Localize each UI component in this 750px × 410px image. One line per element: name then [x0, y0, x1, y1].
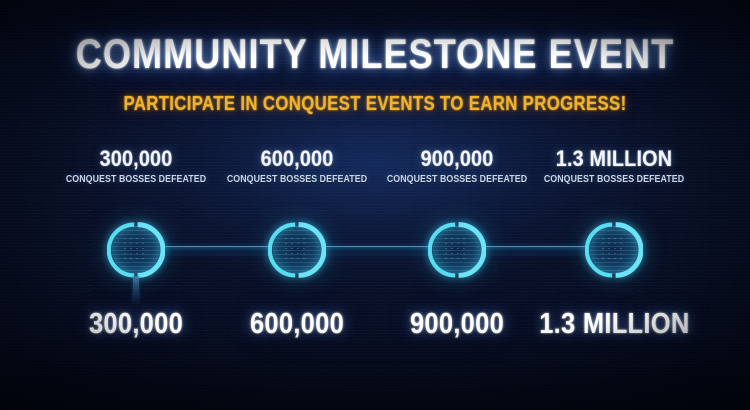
milestone-threshold-value: 900,000 — [381, 146, 534, 171]
milestone-node-ring-arc-icon — [107, 221, 165, 279]
milestone-threshold-label: CONQUEST BOSSES DEFEATED — [382, 174, 532, 186]
milestone-item[interactable]: 900,000 CONQUEST BOSSES DEFEATED 900,000 — [372, 146, 542, 186]
milestone-threshold-value: 300,000 — [60, 146, 213, 171]
milestone-threshold-value: 600,000 — [221, 146, 374, 171]
milestone-connector — [486, 246, 585, 253]
milestone-track: 300,000 CONQUEST BOSSES DEFEATED 300,000… — [0, 146, 750, 366]
milestone-reward-value: 900,000 — [382, 308, 532, 340]
milestone-threshold-label: CONQUEST BOSSES DEFEATED — [222, 174, 372, 186]
page-subtitle: PARTICIPATE IN CONQUEST EVENTS TO EARN P… — [60, 93, 690, 115]
milestone-reward-value: 600,000 — [222, 308, 372, 340]
community-milestone-event-banner: COMMUNITY MILESTONE EVENT PARTICIPATE IN… — [0, 0, 750, 410]
milestone-reward-value: 1.3 MILLION — [539, 308, 689, 340]
milestone-connector — [165, 246, 268, 253]
milestone-node-ring-arc-icon — [268, 221, 326, 279]
milestone-threshold-label: CONQUEST BOSSES DEFEATED — [539, 174, 689, 186]
milestone-item[interactable]: 600,000 CONQUEST BOSSES DEFEATED 600,000 — [212, 146, 382, 186]
milestone-threshold-label: CONQUEST BOSSES DEFEATED — [61, 174, 211, 186]
milestone-node-ring-icon[interactable] — [107, 221, 165, 279]
milestone-node-ring-icon[interactable] — [585, 221, 643, 279]
milestone-node-ring-icon[interactable] — [268, 221, 326, 279]
milestone-progress-stub — [133, 276, 139, 302]
milestone-node-ring-arc-icon — [585, 221, 643, 279]
milestone-threshold-value: 1.3 MILLION — [538, 146, 691, 171]
milestone-item[interactable]: 1.3 MILLION CONQUEST BOSSES DEFEATED 1.3… — [529, 146, 699, 186]
milestone-reward-value: 300,000 — [61, 308, 211, 340]
milestone-connector — [326, 246, 428, 253]
milestone-node-ring-arc-icon — [428, 221, 486, 279]
page-title: COMMUNITY MILESTONE EVENT — [53, 31, 698, 77]
milestone-item[interactable]: 300,000 CONQUEST BOSSES DEFEATED 300,000 — [51, 146, 221, 186]
milestone-node-ring-icon[interactable] — [428, 221, 486, 279]
